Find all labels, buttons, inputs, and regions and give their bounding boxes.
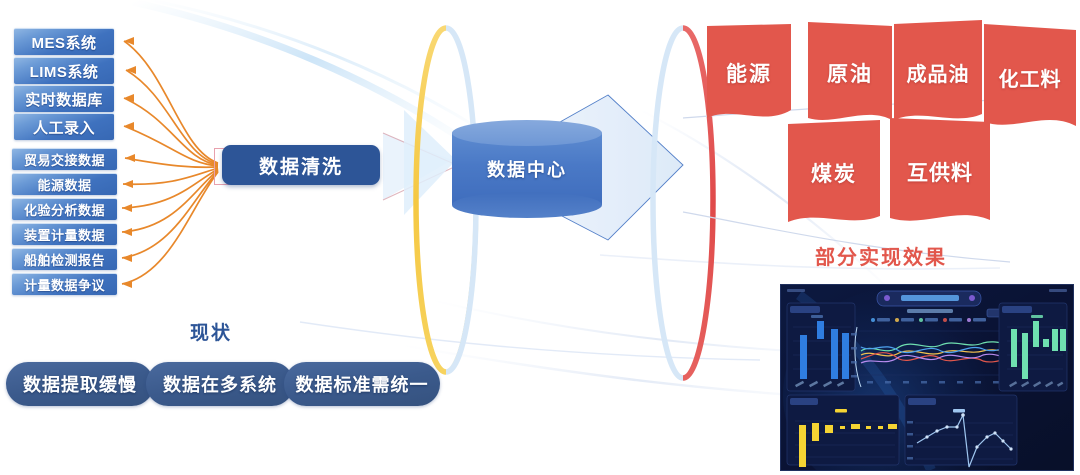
source-box-manual-entry[interactable]: 人工录入 <box>14 113 114 140</box>
funnel-icon-left <box>383 110 456 215</box>
data-center-cylinder[interactable]: 数据中心 <box>452 120 602 218</box>
source-box-label: 化验分析数据 <box>24 200 105 219</box>
output-ribbon-chemical-feed[interactable]: 化工料 <box>984 22 1076 132</box>
source-box-label: 贸易交接数据 <box>24 150 105 169</box>
output-ribbon-coal[interactable]: 煤炭 <box>788 118 880 228</box>
source-box-lab-analysis[interactable]: 化验分析数据 <box>12 198 117 220</box>
status-pill-label: 数据标准需统一 <box>296 371 429 397</box>
ring-icon-right <box>653 28 713 378</box>
status-pill-label: 数据提取缓慢 <box>23 371 137 397</box>
source-box-energy-data[interactable]: 能源数据 <box>12 173 117 195</box>
status-pill-multi-system[interactable]: 数据在多系统 <box>146 362 294 406</box>
source-box-ship-inspection[interactable]: 船舶检测报告 <box>12 248 117 270</box>
source-box-label: 人工录入 <box>33 117 95 138</box>
effect-section-title: 部分实现效果 <box>815 241 947 270</box>
source-box-trade-handover[interactable]: 贸易交接数据 <box>12 148 117 170</box>
cylinder-bottom <box>452 192 602 218</box>
dashboard-svg <box>781 285 1073 470</box>
source-box-realtime-db[interactable]: 实时数据库 <box>14 85 114 112</box>
output-ribbon-label: 化工料 <box>999 63 1062 92</box>
output-ribbon-label: 成品油 <box>907 58 970 87</box>
output-ribbon-label: 能源 <box>726 58 772 88</box>
source-box-mes[interactable]: MES系统 <box>14 28 114 55</box>
source-box-label: LIMS系统 <box>30 61 99 82</box>
output-ribbon-label: 原油 <box>827 58 873 88</box>
source-box-metering-dispute[interactable]: 计量数据争议 <box>12 273 117 295</box>
data-center-label: 数据中心 <box>452 148 602 190</box>
output-ribbon-label: 煤炭 <box>811 158 857 188</box>
output-ribbon-mutual-supply[interactable]: 互供料 <box>890 116 990 228</box>
cylinder-top <box>452 120 602 146</box>
data-cleaning-label: 数据清洗 <box>259 152 343 179</box>
source-box-label: 能源数据 <box>37 175 91 194</box>
data-cleaning-box[interactable]: 数据清洗 <box>222 145 380 185</box>
source-box-label: 船舶检测报告 <box>24 250 105 269</box>
source-box-label: MES系统 <box>31 32 96 53</box>
status-pill-slow-extraction[interactable]: 数据提取缓慢 <box>6 362 154 406</box>
output-ribbon-crude-oil[interactable]: 原油 <box>808 20 892 126</box>
source-box-label: 装置计量数据 <box>24 225 105 244</box>
source-box-lims[interactable]: LIMS系统 <box>14 57 114 84</box>
status-pill-standard-unify[interactable]: 数据标准需统一 <box>284 362 440 406</box>
source-box-label: 计量数据争议 <box>24 275 105 294</box>
status-section-title: 现状 <box>190 318 232 345</box>
source-arrows <box>122 37 218 288</box>
dashboard-preview-image[interactable] <box>780 284 1074 471</box>
output-ribbon-refined-oil[interactable]: 成品油 <box>894 18 982 126</box>
diagram-canvas: MES系统 LIMS系统 实时数据库 人工录入 贸易交接数据 能源数据 化验分析… <box>0 0 1080 475</box>
output-ribbon-energy[interactable]: 能源 <box>707 22 791 124</box>
source-box-device-metering[interactable]: 装置计量数据 <box>12 223 117 245</box>
source-box-label: 实时数据库 <box>25 89 103 110</box>
status-pill-label: 数据在多系统 <box>163 371 277 397</box>
output-ribbon-label: 互供料 <box>907 157 973 187</box>
